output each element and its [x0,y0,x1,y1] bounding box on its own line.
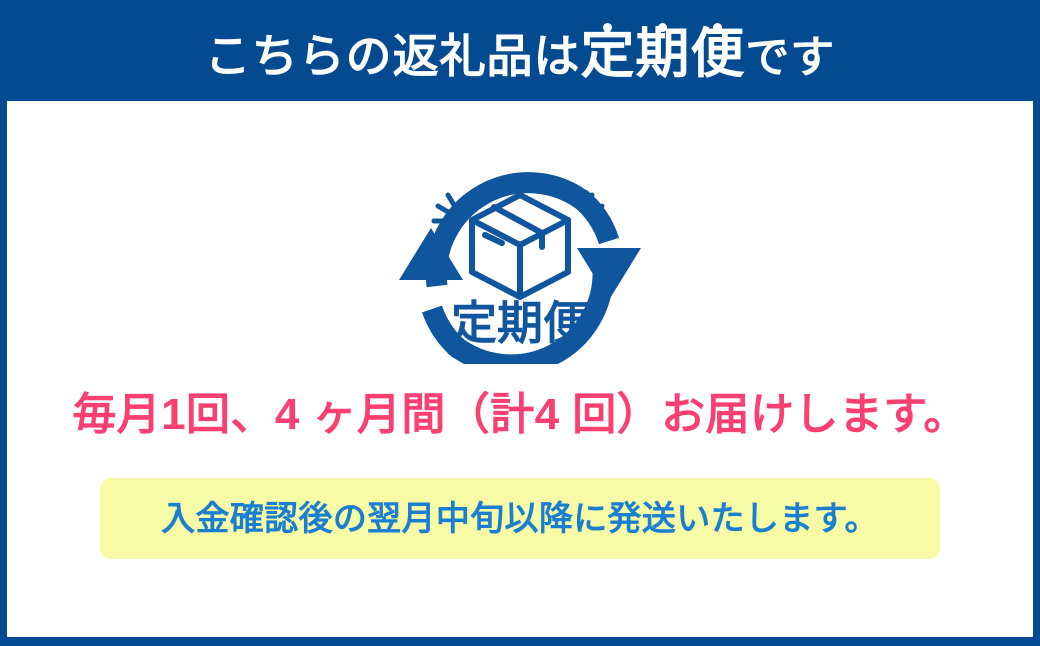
page-title: こちらの返礼品は 定期便 です [205,27,836,81]
teikibin-promo-banner: こちらの返礼品は 定期便 です [0,0,1040,646]
icon-area: 定期便 [7,149,1033,364]
content-stage: 定期便 毎月1回、4 ヶ月間（計4 回）お届けします。 入金確認後の翌月中旬以降… [7,101,1033,637]
header-text-emphasized-wrap: 定期便 [580,27,745,81]
header-band: こちらの返礼品は 定期便 です [0,0,1040,101]
subscription-cycle-icon: 定期便 [390,149,650,364]
header-text-before: こちらの返礼品は [205,33,581,79]
header-title-wrap: こちらの返礼品は 定期便 です [205,21,836,81]
icon-label: 定期便 [451,297,590,349]
cycle-arrowhead-right-icon [577,248,641,300]
shipping-note-banner: 入金確認後の翌月中旬以降に発送いたします。 [100,478,940,559]
header-text-emphasized: 定期便 [580,24,745,84]
shipping-note-text: 入金確認後の翌月中旬以降に発送いたします。 [161,502,879,536]
header-text-after: です [745,36,835,80]
package-box-icon [472,195,568,297]
delivery-frequency-headline: 毎月1回、4 ヶ月間（計4 回）お届けします。 [7,391,1033,439]
frame-border-bottom [0,637,1040,646]
